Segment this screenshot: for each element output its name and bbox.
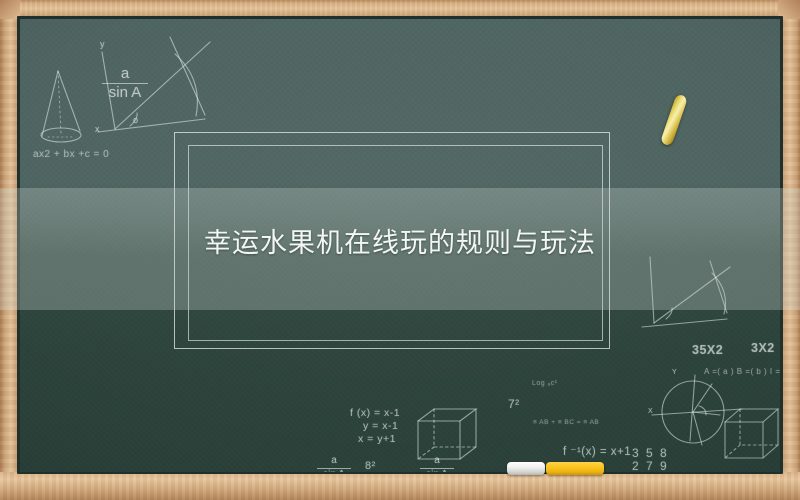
chalk-fraction-a-over-sinA-bl2: a sin A (420, 456, 454, 472)
chalk-ledge (0, 472, 800, 500)
chalk-segment-formula: ≡ AB + ≡ BC = ≡ AB (533, 419, 599, 426)
chalk-fraction-a-over-sinA-bl: a sin A (317, 456, 351, 472)
chalk-quadratic-equation: ax2 + bx +c = 0 (33, 149, 109, 160)
chalk-fx-line-3: x = y+1 (358, 433, 396, 445)
page-title: 幸运水果机在线玩的规则与玩法 (0, 223, 800, 263)
chalk-matrix-dim-b: 3X2 (751, 341, 775, 355)
chalk-axis-y-label: y (100, 39, 105, 49)
chalk-axis-x-label: x (95, 124, 100, 134)
chalk-fraction-a-over-sinA-top: a sin A (102, 66, 148, 101)
chalk-inverse-function: f ⁻¹(x) = x+1 (563, 444, 631, 458)
chalk-fx-line-1: f (x) = x-1 (350, 407, 400, 420)
chalk-seven-squared: 7² (508, 397, 520, 411)
chalk-angle-label: o (133, 115, 139, 125)
chalk-axis-x-label-right: X (648, 408, 653, 415)
chalkboard-banner: a sin A y x o ax2 + bx +c = 0 f (x) = x-… (0, 0, 800, 500)
chalk-eight-squared: 8² (365, 460, 376, 472)
chalk-fx-line-2: y = x-1 (363, 420, 398, 432)
chalk-division-row-1: 3 5 8 (632, 446, 669, 460)
white-chalk-icon (507, 462, 545, 475)
yellow-chalk-icon (546, 462, 604, 475)
chalk-axis-y-label-right: Y (672, 369, 677, 376)
chalk-matrix-notation: A =( a ) B =( b ) I =( c ) (704, 367, 780, 376)
chalk-division-row-2: 2 7 9 (632, 459, 669, 472)
chalk-matrix-dim-a: 35X2 (692, 343, 723, 357)
chalk-log-small: Log ₐc¹ (532, 380, 558, 387)
